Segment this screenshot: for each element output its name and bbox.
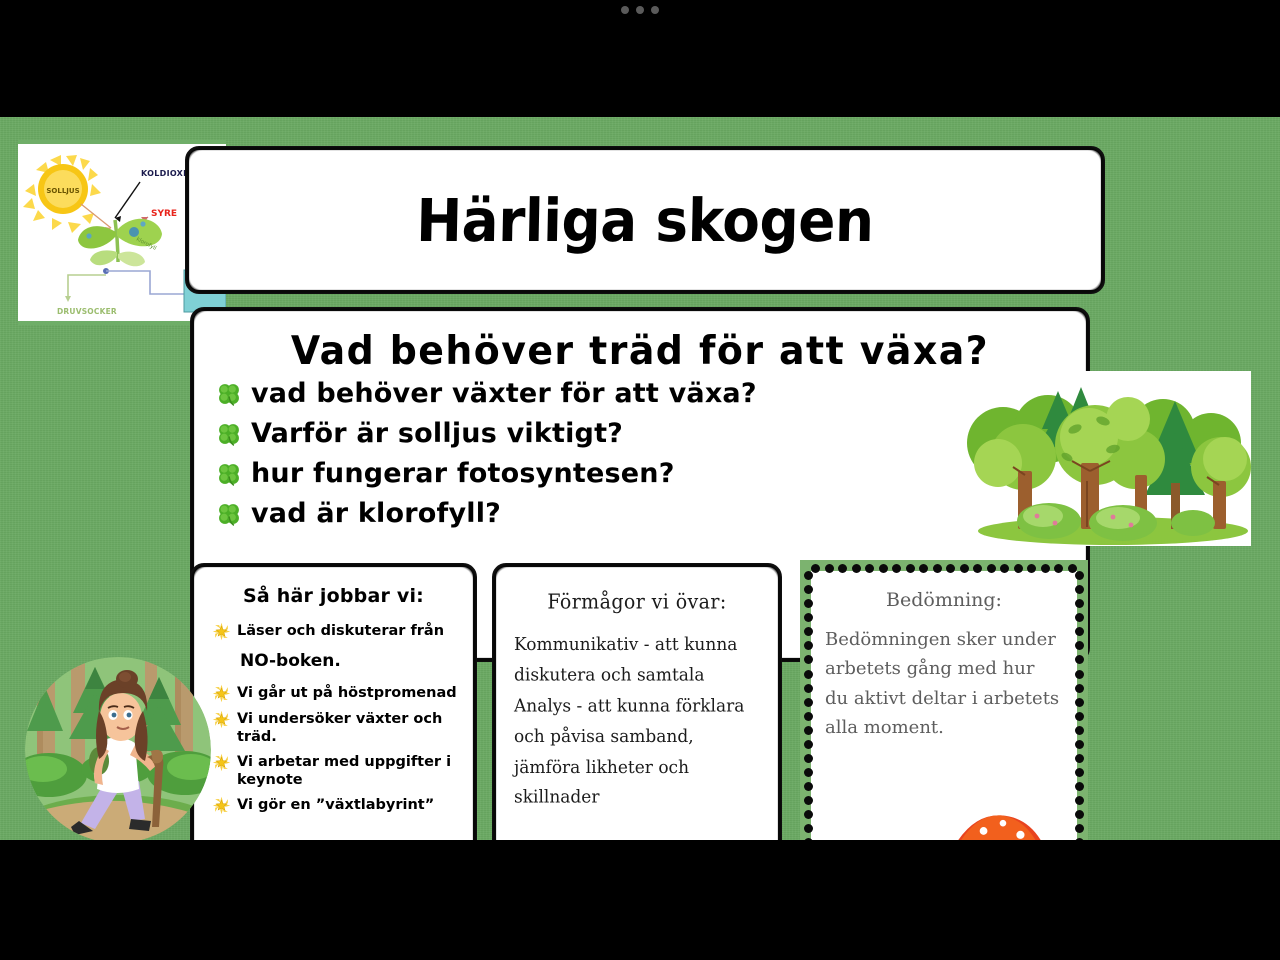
screenshot-root: SOLLJUS KOLDIOXID SYRE (0, 0, 1280, 960)
handle-dot (651, 6, 659, 14)
star-icon (212, 684, 231, 703)
work-method-card: Så här jobbar vi: Läser och diskuterar f… (190, 563, 477, 840)
star-icon (212, 796, 231, 815)
list-item: Varför är solljus viktigt? (216, 418, 1086, 449)
star-icon (212, 710, 231, 729)
slide-canvas: SOLLJUS KOLDIOXID SYRE (0, 117, 1280, 840)
work-step-text: Läser och diskuterar från (237, 623, 444, 640)
work-card-heading: Så här jobbar vi: (204, 585, 463, 607)
assessment-card-heading: Bedömning: (825, 589, 1063, 611)
assessment-card: Bedömning: Bedömningen sker under arbete… (800, 560, 1088, 840)
assessment-card-body: Bedömningen sker under arbetets gång med… (825, 625, 1063, 742)
svg-text:DRUVSOCKER: DRUVSOCKER (57, 307, 117, 316)
handle-dot (621, 6, 629, 14)
work-steps-list: Läser och diskuterar från NO-boken. (204, 623, 463, 815)
top-letterbox-bar (0, 0, 1280, 117)
abilities-card: Förmågor vi övar: Kommunikativ - att kun… (492, 563, 782, 840)
list-item: Vi gör en ”växtlabyrint” (212, 797, 463, 815)
clover-icon (216, 421, 242, 447)
star-icon (212, 622, 231, 641)
question-text: vad behöver växter för att växa? (251, 378, 757, 409)
page-title: Härliga skogen (416, 186, 875, 255)
list-item: vad är klorofyll? (216, 498, 1086, 529)
list-item: hur fungerar fotosyntesen? (216, 458, 1086, 489)
work-step-text: Vi undersöker växter och träd. (237, 711, 463, 746)
clover-icon (216, 381, 242, 407)
list-item: Vi undersöker växter och träd. (212, 711, 463, 746)
questions-heading: Vad behöver träd för att växa? (207, 329, 1072, 374)
question-text: Varför är solljus viktigt? (251, 418, 623, 449)
list-item: vad behöver växter för att växa? (216, 378, 1086, 409)
list-item-continuation: NO-boken. (212, 651, 463, 671)
work-step-text: Vi går ut på höstpromenad (237, 685, 457, 702)
forest-svg (963, 371, 1251, 546)
questions-list: vad behöver växter för att växa? (194, 378, 1086, 529)
mushroom-icon (929, 796, 1075, 840)
question-text: vad är klorofyll? (251, 498, 501, 529)
list-item: Läser och diskuterar från (212, 623, 463, 641)
handle-dot (636, 6, 644, 14)
assessment-card-inner: Bedömning: Bedömningen sker under arbete… (811, 571, 1077, 840)
avatar (25, 657, 211, 840)
work-step-text: NO-boken. (240, 651, 341, 671)
drag-handle-dots-icon[interactable] (621, 6, 659, 14)
dotted-border-right (1075, 571, 1084, 840)
clover-icon (216, 461, 242, 487)
svg-text:SOLLJUS: SOLLJUS (46, 187, 79, 195)
question-text: hur fungerar fotosyntesen? (251, 458, 675, 489)
dotted-border-left (804, 571, 813, 840)
dotted-border-top (811, 564, 1077, 573)
abilities-card-body: Kommunikativ - att kunna diskutera och s… (514, 630, 760, 814)
work-step-text: Vi gör en ”växtlabyrint” (237, 797, 434, 814)
list-item: Vi arbetar med uppgifter i keynote (212, 754, 463, 789)
bottom-letterbox-bar (0, 840, 1280, 960)
abilities-card-heading: Förmågor vi övar: (514, 590, 760, 614)
svg-text:SYRE: SYRE (151, 209, 177, 219)
list-item: Vi går ut på höstpromenad (212, 685, 463, 703)
clover-icon (216, 501, 242, 527)
avatar-svg (25, 657, 211, 840)
forest-image (963, 371, 1251, 546)
slide-title-card: Härliga skogen (185, 146, 1105, 294)
star-icon (212, 753, 231, 772)
work-step-text: Vi arbetar med uppgifter i keynote (237, 754, 463, 789)
